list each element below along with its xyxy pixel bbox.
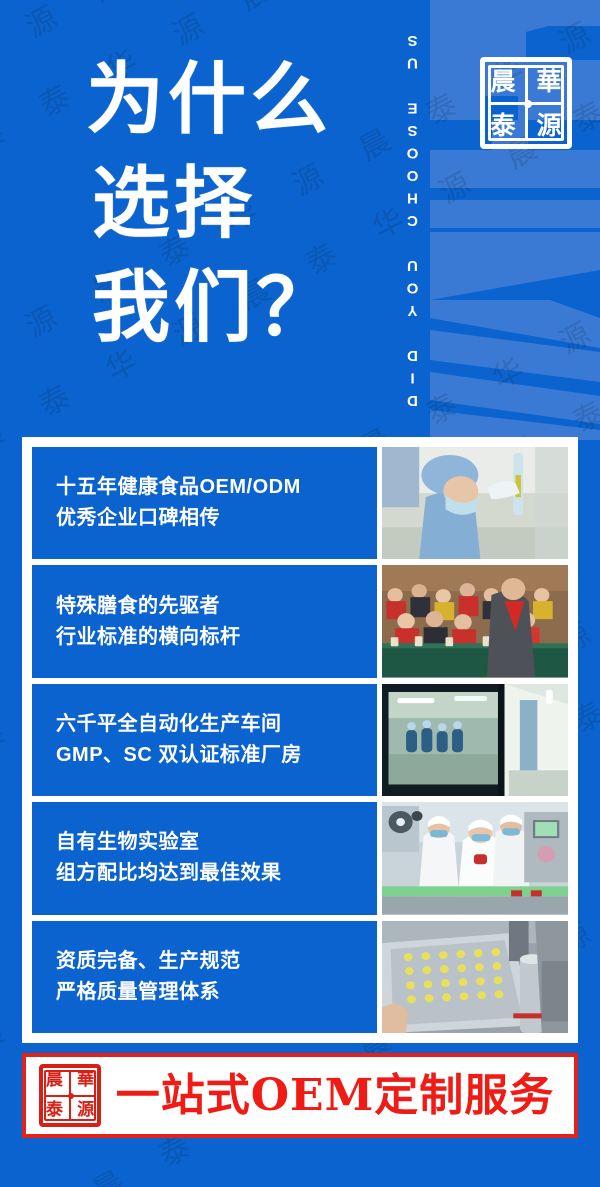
vertical-subtitle: DID YOU CHOOSE US [404,16,430,420]
feature-card-5-line-1: 资质完备、生产规范 [56,946,377,977]
feature-card-2-line-1: 特殊膳食的先驱者 [56,591,377,622]
poster-header: 为什么 选择 我们？ DID YOU CHOOSE US 晨 華 泰 源 [0,0,600,437]
feature-card-1[interactable]: 十五年健康食品OEM/ODM 优秀企业口碑相传 [32,447,568,559]
feature-card-1-text: 十五年健康食品OEM/ODM 优秀企业口碑相传 [32,447,377,559]
banner-slogan-text: 一站式OEM定制服务 [104,1074,574,1118]
feature-card-1-line-2: 优秀企业口碑相传 [56,503,377,534]
workers-at-packaging-line-photo [382,802,568,914]
company-seal-logo: 晨 華 泰 源 [476,53,576,153]
feature-cards-frame: 十五年健康食品OEM/ODM 优秀企业口碑相传 [22,437,578,1043]
banner-company-seal-logo: 晨 華 泰 源 [36,1062,104,1130]
feature-card-5-line-2: 严格质量管理体系 [56,977,377,1008]
feature-card-2-text: 特殊膳食的先驱者 行业标准的横向标杆 [32,565,377,677]
bottom-slogan-banner[interactable]: 晨 華 泰 源 一站式OEM定制服务 [22,1053,578,1138]
clean-room-production-corridor-photo [382,684,568,796]
feature-card-2-line-2: 行业标准的横向标杆 [56,622,377,653]
feature-card-3[interactable]: 六千平全自动化生产车间 GMP、SC 双认证标准厂房 [32,684,568,796]
feature-card-4-text: 自有生物实验室 组方配比均达到最佳效果 [32,802,377,914]
poster-root: 为什么 选择 我们？ DID YOU CHOOSE US 晨 華 泰 源 [0,0,600,1187]
lab-technician-pipetting-photo [382,447,568,559]
feature-card-3-line-2: GMP、SC 双认证标准厂房 [56,740,377,771]
conference-audience-photo [382,565,568,677]
title-line-2: 选择 [86,152,386,256]
feature-card-4-line-2: 组方配比均达到最佳效果 [56,858,377,889]
seal-center-dot [524,100,532,108]
feature-cards-list: 十五年健康食品OEM/ODM 优秀企业口碑相传 [32,447,568,1033]
page-title: 为什么 选择 我们？ [86,48,386,360]
title-line-1: 为什么 [86,48,386,152]
feature-card-2[interactable]: 特殊膳食的先驱者 行业标准的横向标杆 [32,565,568,677]
seal-char-bottom-right: 源 [529,105,569,145]
seal-char-top-right: 華 [529,61,569,101]
feature-card-4-line-1: 自有生物实验室 [56,827,377,858]
banner-seal-char-top-left: 晨 [41,1067,68,1094]
feature-card-4[interactable]: 自有生物实验室 组方配比均达到最佳效果 [32,802,568,914]
title-line-3: 我们？ [86,256,386,360]
banner-seal-char-top-right: 華 [72,1067,99,1094]
seal-char-bottom-left: 泰 [483,105,523,145]
feature-card-3-line-1: 六千平全自动化生产车间 [56,709,377,740]
tablet-blister-packing-machine-photo [382,921,568,1033]
seal-char-top-left: 晨 [483,61,523,101]
feature-card-1-line-1: 十五年健康食品OEM/ODM [56,472,377,503]
banner-seal-char-bottom-right: 源 [72,1097,99,1124]
feature-card-5[interactable]: 资质完备、生产规范 严格质量管理体系 [32,921,568,1033]
banner-seal-char-bottom-left: 泰 [41,1097,68,1124]
feature-card-3-text: 六千平全自动化生产车间 GMP、SC 双认证标准厂房 [32,684,377,796]
feature-card-5-text: 资质完备、生产规范 严格质量管理体系 [32,921,377,1033]
